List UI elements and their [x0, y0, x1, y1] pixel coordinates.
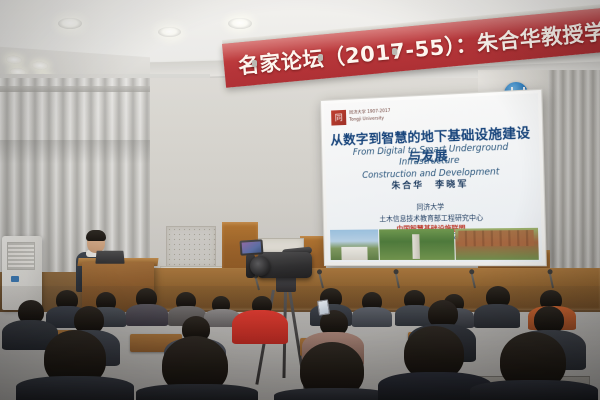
audience-shoulders-foreground — [16, 376, 134, 400]
banner-clip — [318, 54, 323, 61]
tongji-name-en: Tongji University — [349, 114, 391, 122]
ac-badge — [11, 276, 19, 282]
ac-grille — [7, 242, 35, 270]
banner-clip — [392, 48, 397, 55]
acoustic-panel — [166, 226, 216, 268]
downlight-icon — [58, 18, 82, 29]
laptop-icon — [95, 251, 124, 264]
speaker-hair — [86, 230, 106, 241]
audience-shoulders-red-jacket — [232, 310, 288, 344]
smartphone-icon — [317, 299, 330, 315]
audience-shoulders-foreground — [470, 380, 598, 400]
lecture-hall-photo: 名家论坛（2017-55）：朱合华教授学术报告会 同济 同济大学 1907-20… — [0, 0, 600, 400]
right-curtain — [548, 70, 600, 292]
slide-photo-strip — [330, 228, 539, 260]
title-slide: 同济 同济大学 1907-2017 Tongji University 从数字到… — [324, 93, 542, 262]
banner-clip — [252, 60, 257, 67]
strip-lamp-icon — [6, 55, 22, 64]
audience-shoulders — [126, 304, 168, 326]
tongji-wordmark: 同济大学 1907-2017 Tongji University — [349, 108, 391, 123]
downlight-icon — [228, 18, 252, 29]
tongji-seal-icon: 同济 — [331, 110, 346, 126]
audience-shoulders — [474, 304, 520, 328]
red-brick-building-photo — [455, 228, 539, 260]
camera-lcd-screen — [240, 239, 264, 256]
campus-gate-photo — [330, 229, 379, 260]
projection-screen: 同济 同济大学 1907-2017 Tongji University 从数字到… — [320, 89, 547, 267]
audience-shoulders-foreground — [136, 384, 258, 400]
audience-shoulders-foreground — [274, 388, 392, 400]
campus-fountain-monument-photo — [379, 229, 454, 260]
downlight-icon — [158, 27, 181, 37]
camera-lens-icon — [250, 256, 270, 276]
audience-shoulders — [352, 307, 392, 327]
strip-lamp-icon — [32, 61, 48, 70]
